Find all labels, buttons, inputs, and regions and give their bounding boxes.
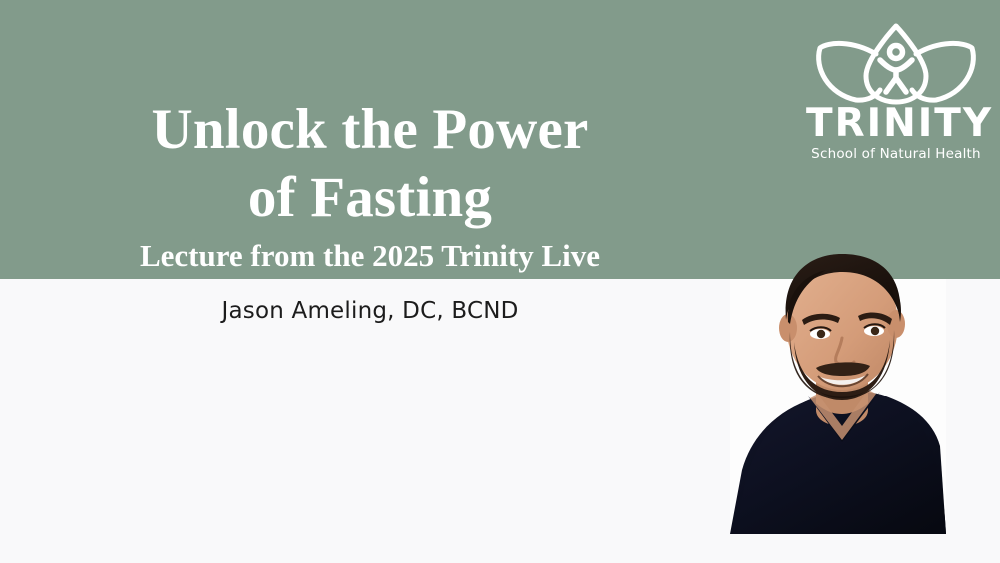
trinity-logo: TRINITY School of Natural Health: [806, 20, 986, 168]
lotus-figure-icon: [806, 20, 986, 106]
presenter-photo: [690, 246, 946, 534]
presenter-name: Jason Ameling, DC, BCND: [0, 298, 740, 324]
presentation-slide: TRINITY School of Natural Health Unlock …: [0, 0, 1000, 563]
logo-tagline: School of Natural Health: [806, 145, 986, 163]
logo-wordmark: TRINITY: [806, 104, 986, 144]
